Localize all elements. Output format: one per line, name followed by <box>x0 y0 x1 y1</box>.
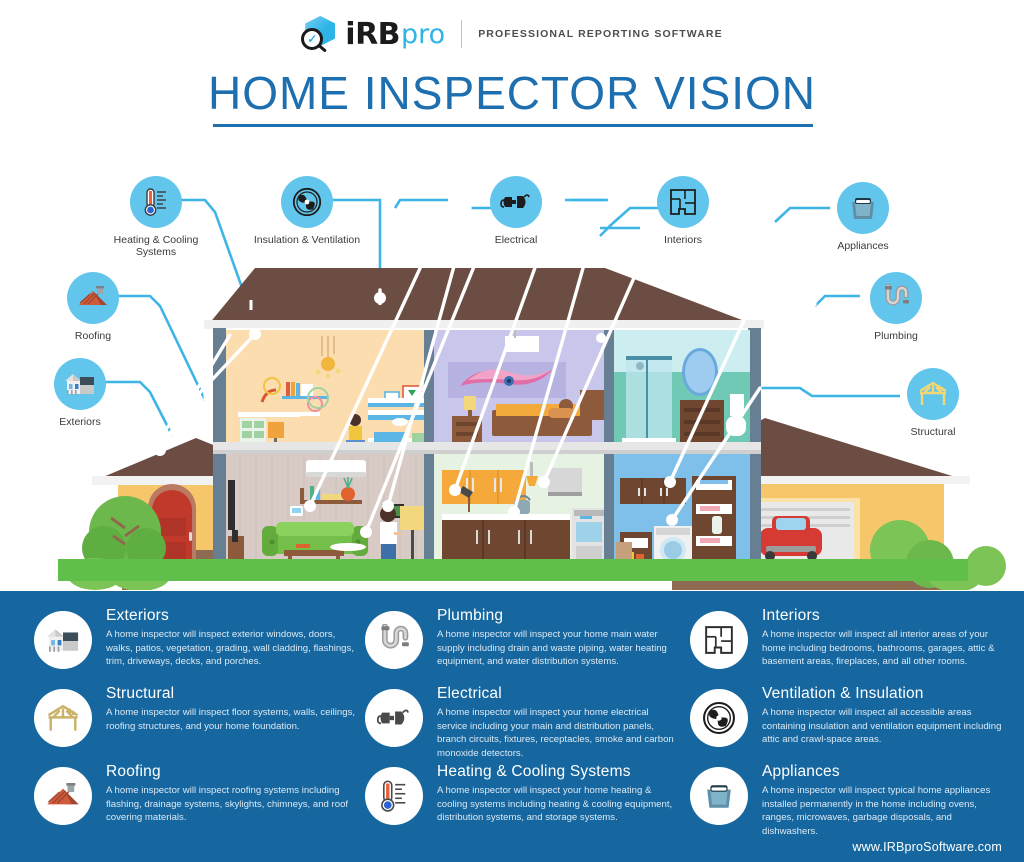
legend-item-title: Plumbing <box>437 607 695 625</box>
logo-divider <box>461 20 462 48</box>
legend-item-desc: A home inspector will inspect all interi… <box>762 628 1002 669</box>
legend-item-desc: A home inspector will inspect your home … <box>437 706 677 760</box>
roof-icon <box>67 272 119 324</box>
legend-item-title: Electrical <box>437 685 695 703</box>
roof-icon <box>34 767 92 825</box>
callout-electrical[interactable]: Electrical <box>456 176 576 246</box>
callout-insulation-ventilation[interactable]: Insulation & Ventilation <box>247 176 367 246</box>
legend-item-desc: A home inspector will inspect all access… <box>762 706 1002 747</box>
legend-item-plumbing[interactable]: Plumbing A home inspector will inspect y… <box>365 607 695 685</box>
callout-label: Structural <box>873 426 993 438</box>
legend-item-desc: A home inspector will inspect your home … <box>437 628 677 669</box>
legend-item-interiors[interactable]: Interiors A home inspector will inspect … <box>690 607 1020 685</box>
legend-item-ventilation-insulation[interactable]: Ventilation & Insulation A home inspecto… <box>690 685 1020 763</box>
pipe-icon <box>870 272 922 324</box>
house-diagram: Heating & CoolingSystems Insulation & Ve… <box>0 150 1024 590</box>
callout-label: Heating & CoolingSystems <box>96 234 216 258</box>
legend-item-desc: A home inspector will inspect floor syst… <box>106 706 364 733</box>
callout-label: Insulation & Ventilation <box>247 234 367 246</box>
legend-item-title: Structural <box>106 685 364 703</box>
floorplan-icon <box>657 176 709 228</box>
truss-icon <box>34 689 92 747</box>
floorplan-icon <box>690 611 748 669</box>
legend-panel: Exteriors A home inspector will inspect … <box>0 591 1024 862</box>
legend-item-desc: A home inspector will inspect your home … <box>437 784 677 825</box>
callout-appliances[interactable]: Appliances <box>803 182 923 252</box>
legend-item-desc: A home inspector will inspect roofing sy… <box>106 784 364 825</box>
callout-label: Appliances <box>803 240 923 252</box>
brand-tagline: PROFESSIONAL REPORTING SOFTWARE <box>478 28 723 40</box>
legend-column-left: Exteriors A home inspector will inspect … <box>34 607 364 841</box>
legend-item-exteriors[interactable]: Exteriors A home inspector will inspect … <box>34 607 364 685</box>
callout-interiors[interactable]: Interiors <box>623 176 743 246</box>
legend-item-appliances[interactable]: Appliances A home inspector will inspect… <box>690 763 1020 841</box>
callout-label: Plumbing <box>836 330 956 342</box>
legend-item-electrical[interactable]: Electrical A home inspector will inspect… <box>365 685 695 763</box>
fan-icon <box>690 689 748 747</box>
house-exterior-icon <box>34 611 92 669</box>
lawn-strip <box>58 559 968 581</box>
legend-item-title: Interiors <box>762 607 1020 625</box>
callout-label: Electrical <box>456 234 576 246</box>
brand-logo-bar: ✓ iRB pro PROFESSIONAL REPORTING SOFTWAR… <box>0 14 1024 54</box>
callout-label: Exteriors <box>20 416 140 428</box>
callout-structural[interactable]: Structural <box>873 368 993 438</box>
legend-item-desc: A home inspector will inspect typical ho… <box>762 784 1002 838</box>
magnifier-cube-logo-icon: ✓ <box>301 16 339 52</box>
brand-name-irb: iRB <box>345 17 400 52</box>
legend-column-middle: Plumbing A home inspector will inspect y… <box>365 607 695 841</box>
brand-name-pro: pro <box>401 19 445 50</box>
truss-icon <box>907 368 959 420</box>
callout-exteriors[interactable]: Exteriors <box>20 358 140 428</box>
callout-plumbing[interactable]: Plumbing <box>836 272 956 342</box>
legend-item-roofing[interactable]: Roofing A home inspector will inspect ro… <box>34 763 364 841</box>
callout-roofing[interactable]: Roofing <box>33 272 153 342</box>
legend-item-title: Exteriors <box>106 607 364 625</box>
legend-item-title: Roofing <box>106 763 364 781</box>
callout-label: Roofing <box>33 330 153 342</box>
title-underline <box>213 124 813 127</box>
legend-item-heating-cooling[interactable]: Heating & Cooling Systems A home inspect… <box>365 763 695 841</box>
house-exterior-icon <box>54 358 106 410</box>
plug-icon <box>490 176 542 228</box>
legend-column-right: Interiors A home inspector will inspect … <box>690 607 1020 841</box>
callout-label: Interiors <box>623 234 743 246</box>
legend-item-title: Ventilation & Insulation <box>762 685 1020 703</box>
plug-icon <box>365 689 423 747</box>
website-url[interactable]: www.IRBproSoftware.com <box>852 840 1002 854</box>
fan-icon <box>281 176 333 228</box>
dishwasher-icon <box>837 182 889 234</box>
pipe-icon <box>365 611 423 669</box>
thermometer-icon <box>130 176 182 228</box>
legend-item-title: Heating & Cooling Systems <box>437 763 695 781</box>
page-title: HOME INSPECTOR VISION <box>0 66 1024 120</box>
thermometer-icon <box>365 767 423 825</box>
legend-item-structural[interactable]: Structural A home inspector will inspect… <box>34 685 364 763</box>
callout-heating-cooling-systems[interactable]: Heating & CoolingSystems <box>96 176 216 258</box>
legend-item-title: Appliances <box>762 763 1020 781</box>
legend-item-desc: A home inspector will inspect exterior w… <box>106 628 364 669</box>
dishwasher-icon <box>690 767 748 825</box>
